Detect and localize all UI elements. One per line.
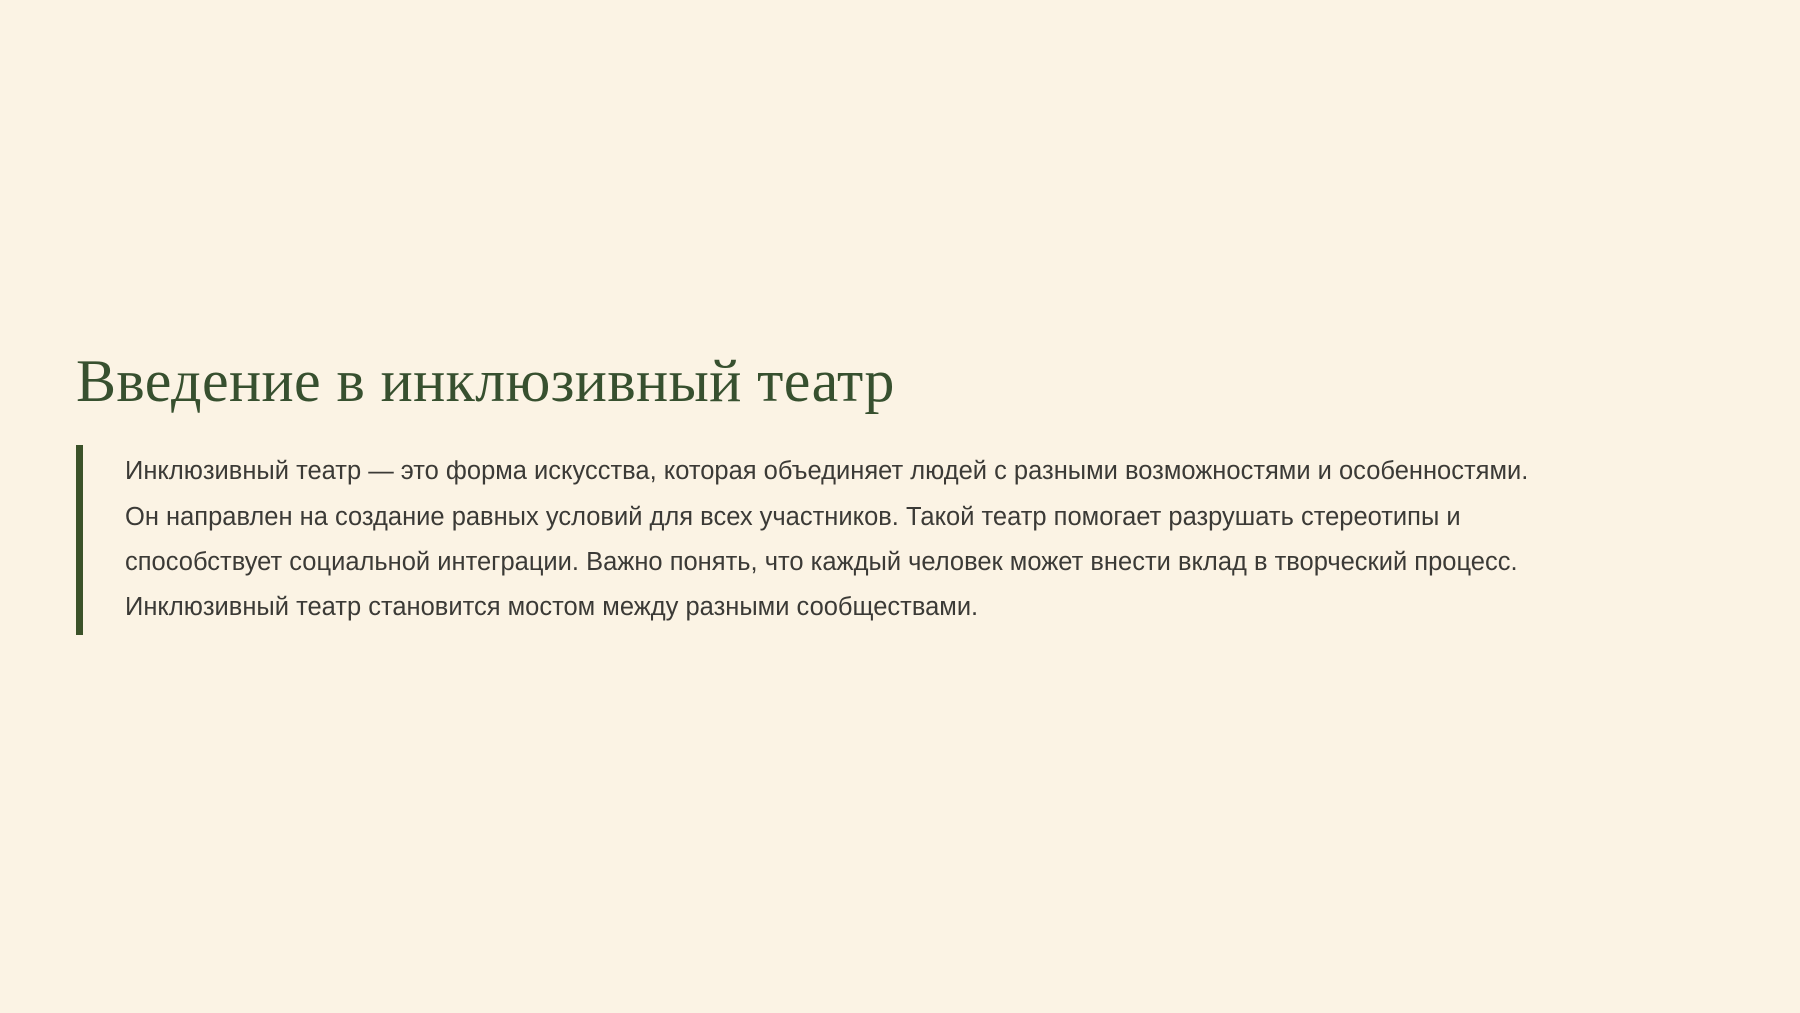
intro-paragraph: Инклюзивный театр — это форма искусства,… (83, 445, 1545, 635)
page-title: Введение в инклюзивный театр (76, 348, 1716, 415)
slide-content: Введение в инклюзивный театр Инклюзивный… (76, 348, 1716, 635)
slide-canvas: Введение в инклюзивный театр Инклюзивный… (0, 0, 1800, 1013)
accent-bar (76, 445, 83, 635)
intro-callout: Инклюзивный театр — это форма искусства,… (76, 445, 1716, 635)
